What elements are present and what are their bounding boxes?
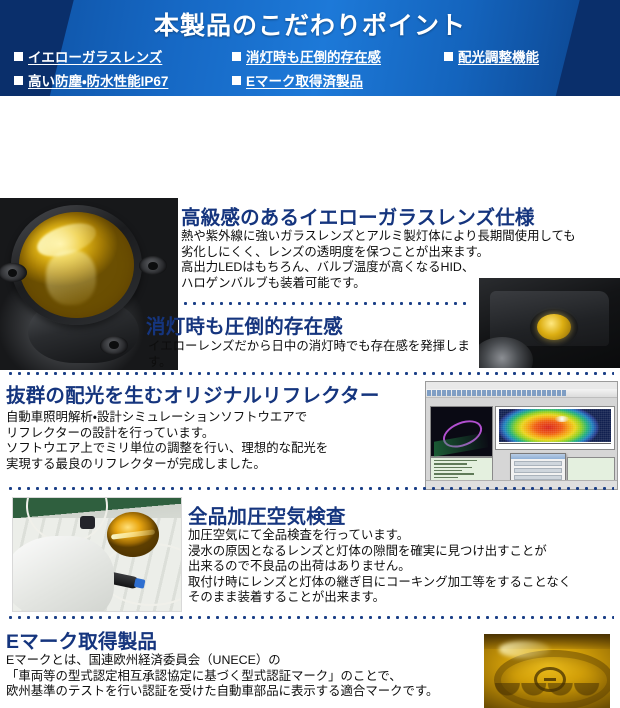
square-bullet-icon [444, 52, 453, 61]
cae-photometric-heatmap-panel [495, 406, 615, 451]
section-body-presence: イエローレンズだから日中の消灯時でも存在感を発揮します。 [148, 339, 493, 370]
square-bullet-icon [232, 52, 241, 61]
pressurized-air-inspection-photo [12, 497, 182, 612]
feature-bullet-beam-adjust: 配光調整機能 [444, 46, 612, 66]
section-heading-emark: Eマーク取得製品 [6, 625, 157, 654]
section-body-emark: Eマークとは、国連欧州経済委員会（UNECE）の 「車両等の型式認定相互承認協定… [6, 653, 476, 700]
feature-bullet-label: イエローガラスレンズ [28, 46, 162, 66]
divider-dots-after-glass-lens [181, 302, 472, 305]
lighting-simulation-software-screenshot [425, 381, 618, 490]
square-bullet-icon [232, 76, 241, 85]
feature-bullet-emark: Eマーク取得済製品 [232, 70, 444, 90]
section-heading-air-test: 全品加圧空気検査 [188, 500, 346, 529]
section-body-air-test: 加圧空気にて全品検査を行っています。 浸水の原因となるレンズと灯体の隙間を確実に… [188, 528, 612, 606]
emark-engraving-photo [484, 634, 610, 708]
feature-bullet-yellow-glass-lens: イエローガラスレンズ [14, 46, 232, 66]
divider-dots-after-presence [6, 372, 614, 375]
section-heading-glass-lens: 高級感のあるイエローガラスレンズ仕様 [181, 201, 535, 230]
section-body-reflector: 自動車照明解析・設計シミュレーションソフトウエアで リフレクターの設計を行ってい… [6, 410, 426, 472]
feature-bullet-label: Eマーク取得済製品 [246, 70, 363, 90]
section-heading-reflector: 抜群の配光を生むオリジナルリフレクター [6, 379, 380, 408]
header-feature-bullet-list: イエローガラスレンズ 消灯時も圧倒的存在感 配光調整機能 高い防塵・防水性能IP… [14, 44, 612, 92]
car-bumper-fog-lamp-photo [479, 278, 620, 368]
feature-bullet-label: 配光調整機能 [458, 46, 539, 66]
page-header: 本製品のこだわりポイント イエローガラスレンズ 消灯時も圧倒的存在感 配光調整機… [0, 0, 620, 96]
section-heading-presence: 消灯時も圧倒的存在感 [146, 310, 343, 339]
content-sheet: 高級感のあるイエローガラスレンズ仕様 熱や紫外線に強いガラスレンズとアルミ製灯体… [0, 96, 620, 620]
feature-bullet-ip67: 高い防塵・防水性能IP67 [14, 70, 232, 90]
divider-dots-after-reflector [6, 487, 614, 490]
feature-bullet-presence-when-off: 消灯時も圧倒的存在感 [232, 46, 444, 66]
feature-bullet-label: 高い防塵・防水性能IP67 [28, 70, 168, 90]
square-bullet-icon [14, 76, 23, 85]
page-title: 本製品のこだわりポイント [0, 6, 620, 42]
cae-3d-view-panel [430, 406, 493, 457]
divider-dots-after-air-test [6, 616, 614, 619]
feature-bullet-label: 消灯時も圧倒的存在感 [246, 46, 381, 66]
square-bullet-icon [14, 52, 23, 61]
